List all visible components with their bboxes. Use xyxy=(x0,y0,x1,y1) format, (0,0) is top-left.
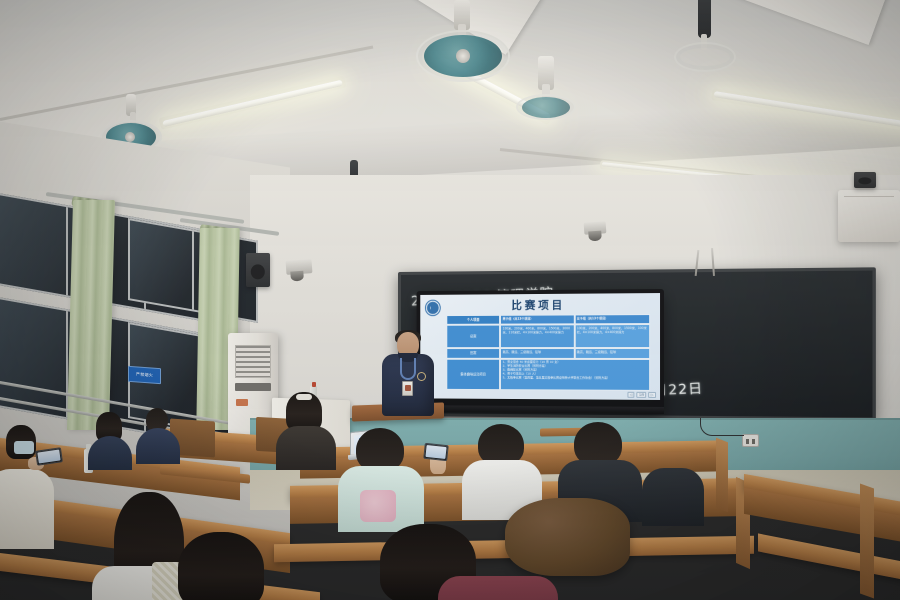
header-women: 女子组（共13个项目） xyxy=(574,314,650,324)
row-label-track: 径赛 xyxy=(446,325,500,348)
shirt-graphic xyxy=(360,490,396,522)
slide-title: 比赛项目 xyxy=(420,296,660,313)
row-label-field: 田赛 xyxy=(446,348,500,359)
projection-screen[interactable]: 比赛项目 个人项目 男子组（共13个项目） 女子组（共13个项目） 径赛 100… xyxy=(417,289,664,414)
row-field-men: 跳高、跳远、三级跳远、铅球 xyxy=(500,348,574,359)
desk-end-panel-1 xyxy=(716,438,728,513)
desk-end-panel-3 xyxy=(860,483,874,598)
row-track-women: 100米、200米、400米、800米、1500米、100米栏、4×100米接力… xyxy=(574,324,650,348)
wall-speaker xyxy=(246,253,270,287)
slide-prev-button[interactable]: ◁ xyxy=(627,392,635,398)
table-row: 集体趣味运动项目 1、男女混合 50 米迎面接力（10 男 10 女） 2、学生… xyxy=(446,359,650,391)
table-row: 径赛 100米、200米、400米、800米、1500米、3000米、110米栏… xyxy=(446,324,650,348)
header-personal: 个人项目 xyxy=(446,315,500,325)
right-wall-sensor xyxy=(854,172,876,188)
slide-page-indicator: 1/9 xyxy=(637,392,647,398)
draped-coat xyxy=(505,498,630,576)
power-outlet[interactable] xyxy=(742,434,759,447)
left-wall-camera xyxy=(286,259,313,275)
table-row: 田赛 跳高、跳远、三级跳远、铅球 跳高、跳远、三级跳远、铅球 xyxy=(446,348,650,360)
presenter-id-badge xyxy=(402,381,413,396)
row-group-events: 1、男女混合 50 米迎面接力（10 男 10 女） 2、学生消防安全比赛（另附… xyxy=(500,359,650,391)
classroom-photo-scene: 严禁烟火 2023-2024 管理学院 第一次文体委员 系统培训会议 2023年… xyxy=(0,0,900,600)
face-mask xyxy=(14,441,34,454)
presenter-shirt-logo xyxy=(417,372,426,381)
slide-navigation[interactable]: ◁ 1/9 ▷ xyxy=(627,392,656,398)
slide-next-button[interactable]: ▷ xyxy=(648,392,656,398)
desk-row-right-2 xyxy=(758,533,900,580)
dome-security-camera xyxy=(584,221,607,235)
row-label-group: 集体趣味运动项目 xyxy=(446,359,500,390)
presenter xyxy=(380,332,436,420)
header-men: 男子组（共13个项目） xyxy=(500,314,574,324)
slide-content: 比赛项目 个人项目 男子组（共13个项目） 女子组（共13个项目） 径赛 100… xyxy=(420,293,660,400)
competition-table: 个人项目 男子组（共13个项目） 女子组（共13个项目） 径赛 100米、200… xyxy=(446,314,650,391)
phone-center[interactable] xyxy=(423,443,449,461)
row-field-women: 跳高、跳远、三级跳远、铅球 xyxy=(574,348,650,360)
screen-power-cable xyxy=(700,418,744,436)
presenter-lanyard xyxy=(400,358,416,380)
wall-mounted-ac xyxy=(838,190,900,242)
safety-sign: 严禁烟火 xyxy=(128,366,161,384)
hair-clip xyxy=(296,394,312,400)
row-track-men: 100米、200米、400米、800米、1500米、3000米、110米栏、4×… xyxy=(500,324,574,348)
